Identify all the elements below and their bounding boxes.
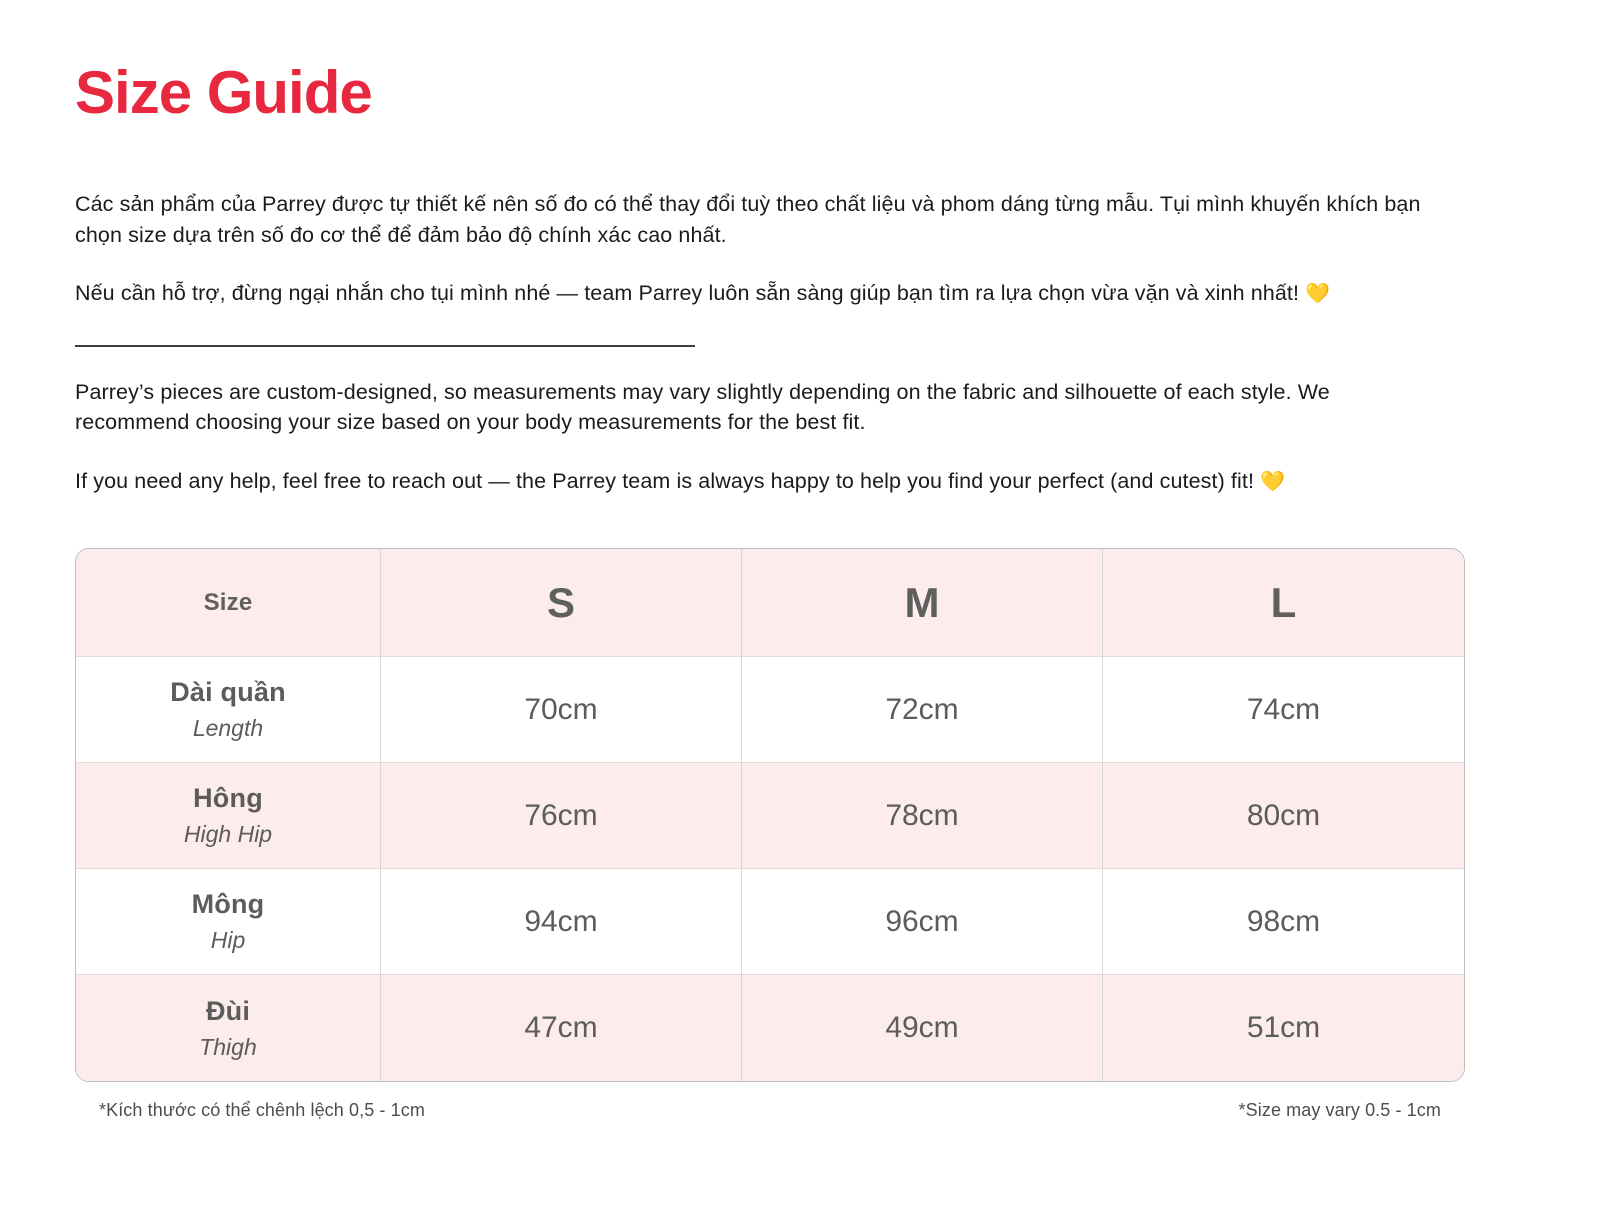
intro-english: Parrey’s pieces are custom-designed, so …: [75, 377, 1525, 497]
intro-en-paragraph-1: Parrey’s pieces are custom-designed, so …: [75, 377, 1440, 438]
table-header-l: L: [1103, 549, 1464, 657]
row-label-en: Length: [76, 714, 380, 743]
cell-hip-l: 98cm: [1103, 869, 1464, 975]
cell-length-l: 74cm: [1103, 657, 1464, 763]
cell-hip-m: 96cm: [742, 869, 1103, 975]
intro-vi-paragraph-2-text: Nếu cần hỗ trợ, đừng ngại nhắn cho tụi m…: [75, 281, 1299, 305]
size-table-container: Size S M L Dài quần Length 70cm 72cm 74c…: [75, 548, 1525, 1121]
yellow-heart-icon: 💛: [1305, 283, 1330, 305]
size-table: Size S M L Dài quần Length 70cm 72cm 74c…: [75, 548, 1465, 1082]
intro-vi-paragraph-2: Nếu cần hỗ trợ, đừng ngại nhắn cho tụi m…: [75, 278, 1440, 309]
cell-high-hip-l: 80cm: [1103, 763, 1464, 869]
table-header-size: Size: [76, 549, 381, 657]
row-label-vi: Hông: [76, 782, 380, 816]
cell-length-m: 72cm: [742, 657, 1103, 763]
footnote-english: *Size may vary 0.5 - 1cm: [1239, 1100, 1441, 1121]
cell-length-s: 70cm: [381, 657, 742, 763]
table-row: Hông High Hip 76cm 78cm 80cm: [76, 763, 1464, 869]
page-title: Size Guide: [75, 0, 1525, 127]
row-label-vi: Dài quần: [76, 676, 380, 710]
cell-thigh-l: 51cm: [1103, 975, 1464, 1081]
row-label-high-hip: Hông High Hip: [76, 763, 381, 869]
section-divider: [75, 345, 695, 347]
size-guide-page: Size Guide Các sản phẩm của Parrey được …: [0, 0, 1600, 1215]
row-label-thigh: Đùi Thigh: [76, 975, 381, 1081]
cell-thigh-s: 47cm: [381, 975, 742, 1081]
cell-high-hip-s: 76cm: [381, 763, 742, 869]
table-header-m: M: [742, 549, 1103, 657]
footnotes: *Kích thước có thể chênh lệch 0,5 - 1cm …: [75, 1100, 1465, 1121]
intro-vi-paragraph-1: Các sản phẩm của Parrey được tự thiết kế…: [75, 189, 1440, 250]
intro-en-paragraph-2-text: If you need any help, feel free to reach…: [75, 469, 1254, 493]
row-label-vi: Mông: [76, 888, 380, 922]
intro-en-paragraph-2: If you need any help, feel free to reach…: [75, 466, 1440, 497]
footnote-vietnamese: *Kích thước có thể chênh lệch 0,5 - 1cm: [99, 1100, 425, 1121]
row-label-hip: Mông Hip: [76, 869, 381, 975]
table-row: Đùi Thigh 47cm 49cm 51cm: [76, 975, 1464, 1081]
cell-hip-s: 94cm: [381, 869, 742, 975]
table-row: Mông Hip 94cm 96cm 98cm: [76, 869, 1464, 975]
row-label-length: Dài quần Length: [76, 657, 381, 763]
intro-vietnamese: Các sản phẩm của Parrey được tự thiết kế…: [75, 189, 1525, 309]
size-table-body: Dài quần Length 70cm 72cm 74cm Hông High…: [76, 657, 1464, 1081]
table-header-row: Size S M L: [76, 549, 1464, 657]
yellow-heart-icon: 💛: [1260, 471, 1285, 493]
table-header-s: S: [381, 549, 742, 657]
row-label-en: Thigh: [76, 1033, 380, 1062]
cell-thigh-m: 49cm: [742, 975, 1103, 1081]
cell-high-hip-m: 78cm: [742, 763, 1103, 869]
row-label-vi: Đùi: [76, 995, 380, 1029]
table-row: Dài quần Length 70cm 72cm 74cm: [76, 657, 1464, 763]
row-label-en: Hip: [76, 926, 380, 955]
size-table-head: Size S M L: [76, 549, 1464, 657]
row-label-en: High Hip: [76, 820, 380, 849]
